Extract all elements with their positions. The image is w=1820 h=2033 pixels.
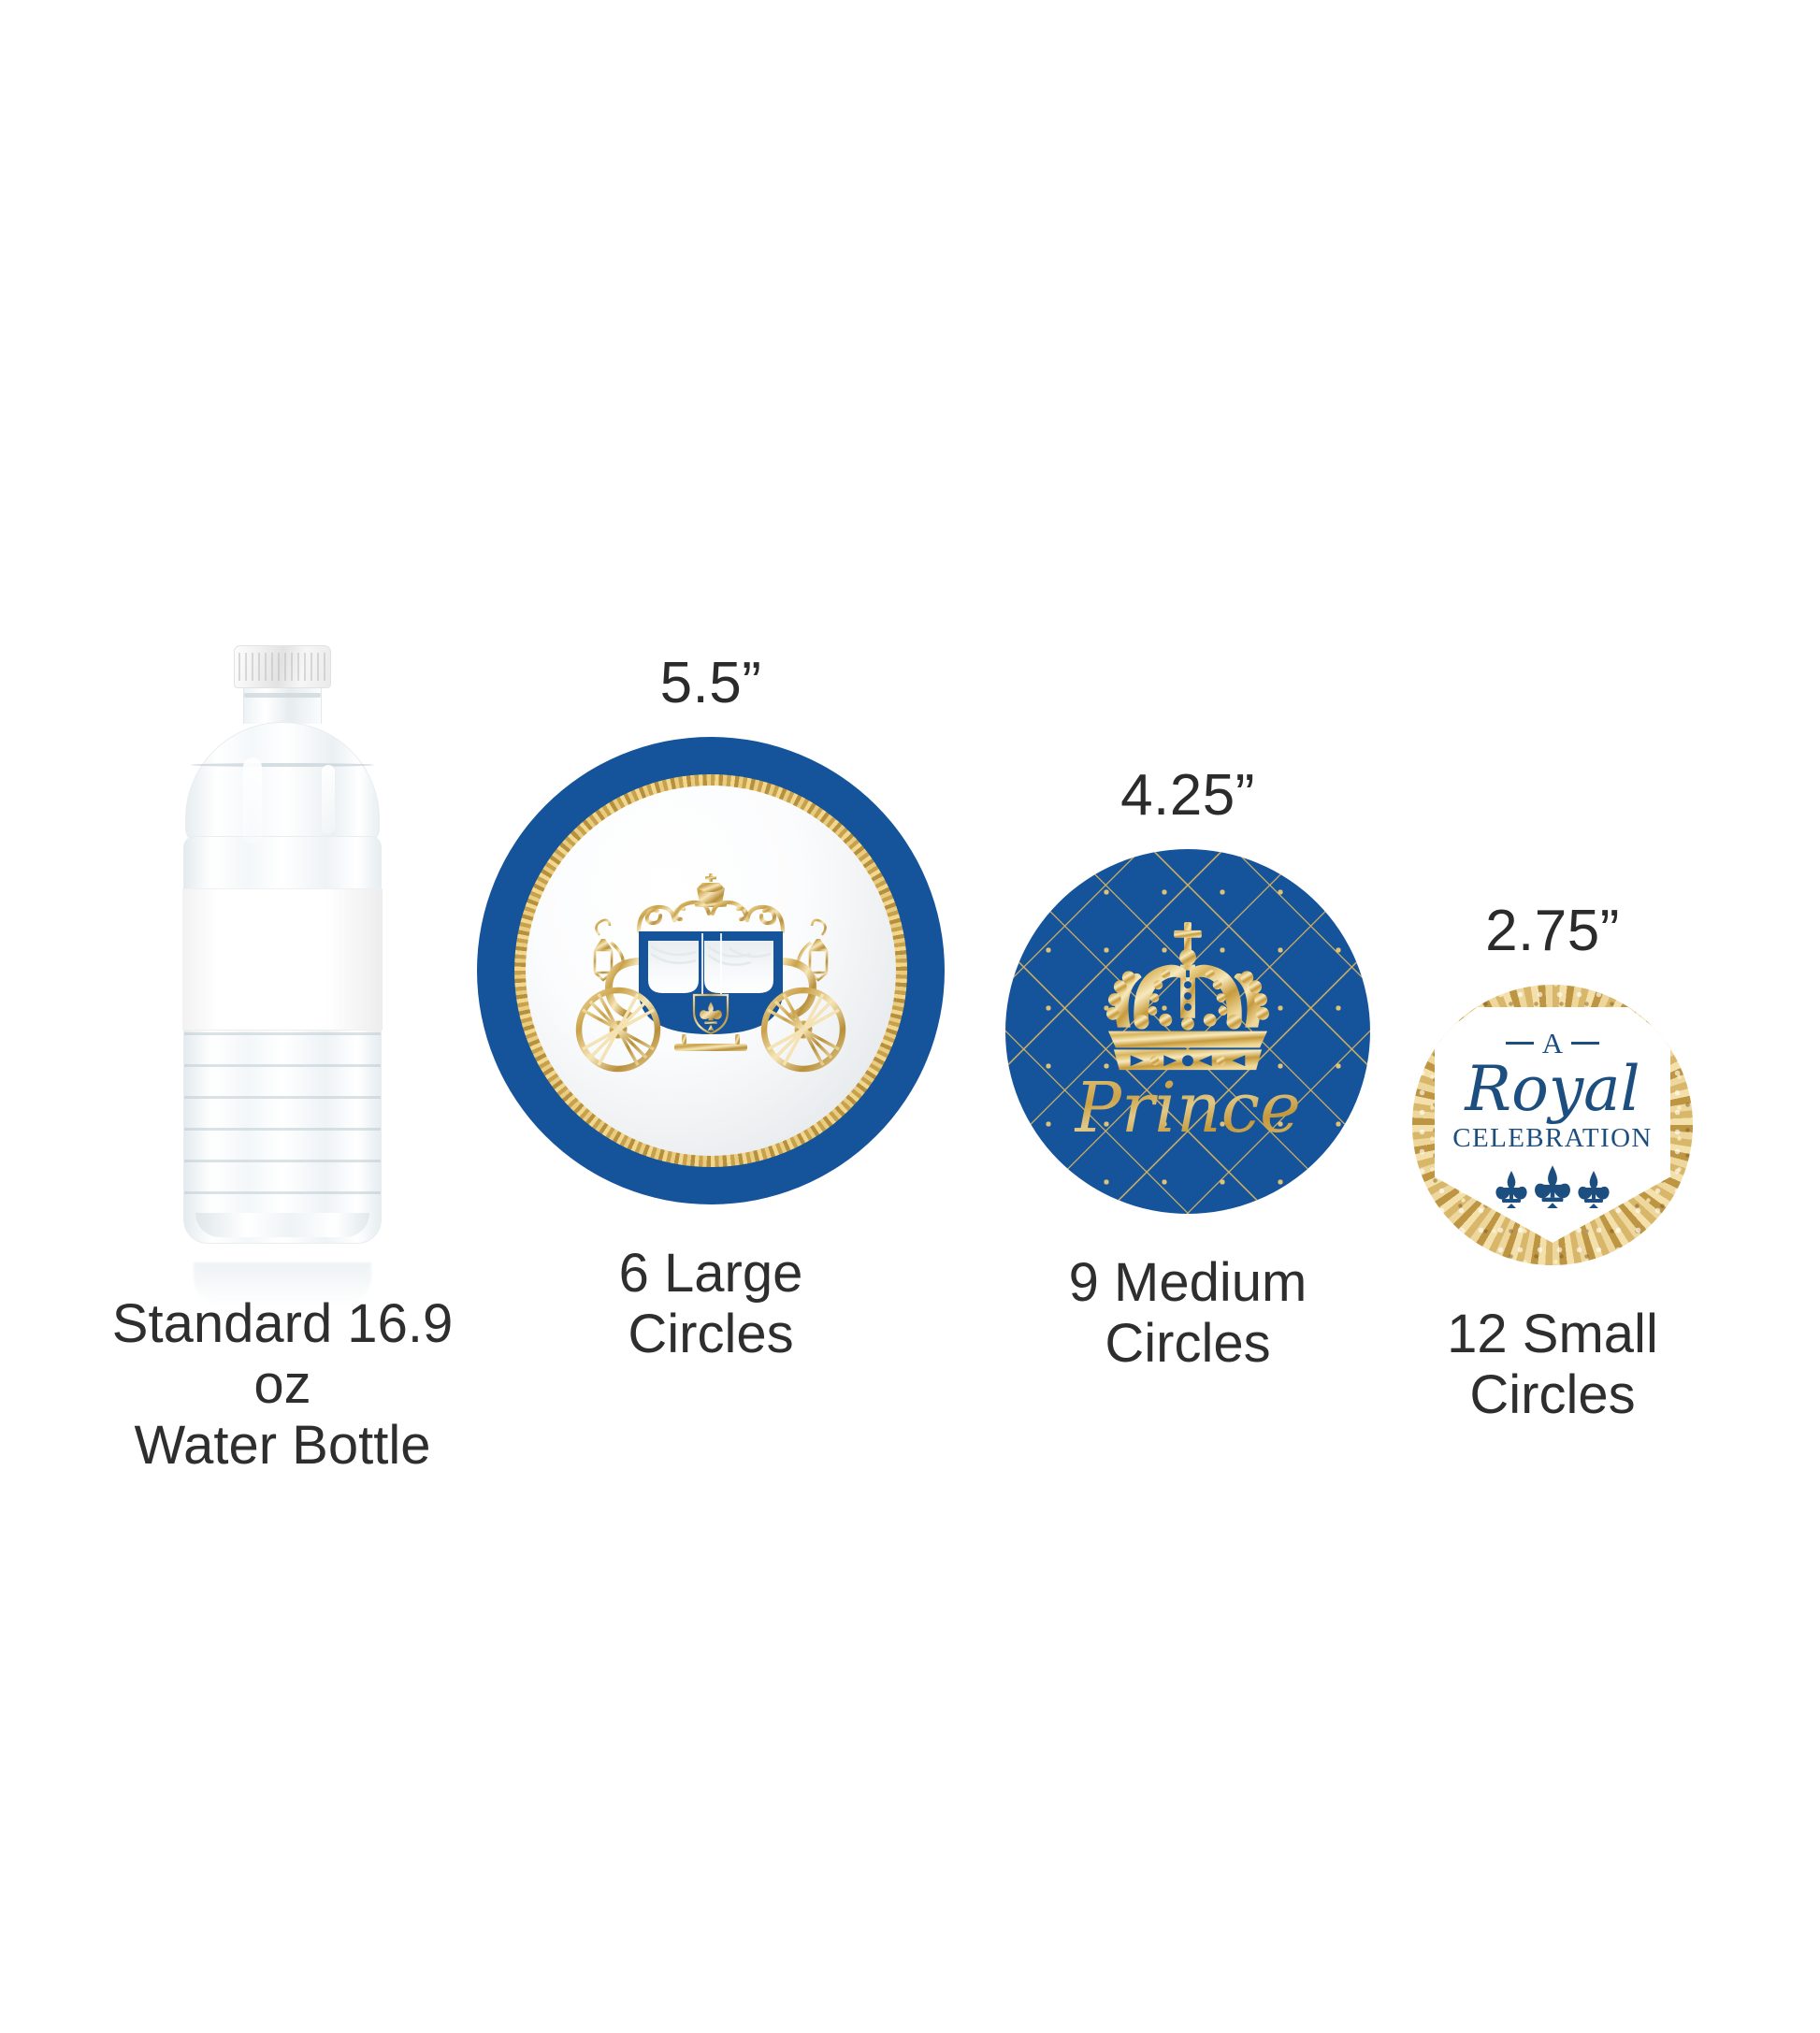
fleur-de-lis-icon-3 — [1578, 1169, 1610, 1208]
small-circle-artwork: A Royal CELEBRATION — [1412, 985, 1693, 1265]
banner-rule-left — [1506, 1042, 1534, 1045]
large-circle-gold-glitter-ring — [514, 774, 907, 1167]
prince-crown-icon — [1076, 920, 1299, 1081]
medium-circle-face: Prince — [1005, 849, 1370, 1214]
bottle-highlight-left — [243, 757, 262, 843]
large-circle-face — [526, 786, 896, 1156]
bottle-highlight-right — [322, 765, 335, 834]
bottle-cap-icon — [234, 645, 331, 688]
small-circle-size-label: 2.75” — [1485, 902, 1620, 960]
bottle-neck — [243, 688, 322, 724]
bottle-waterline — [191, 763, 374, 767]
water-bottle-image — [181, 645, 383, 1262]
bottle-shoulder — [185, 722, 380, 843]
bottle-blank-label — [182, 888, 383, 1031]
medium-circle-artwork: Prince — [1005, 849, 1370, 1214]
large-circle-size-label: 5.5” — [660, 655, 762, 713]
carriage-svg — [556, 868, 865, 1074]
medium-circle-size-label: 4.25” — [1120, 767, 1255, 825]
water-bottle-caption: Standard 16.9 oz Water Bottle — [86, 1294, 479, 1477]
small-circle-caption: 12 Small Circles — [1447, 1305, 1658, 1426]
carriage-footboard — [674, 1034, 747, 1051]
small-circle-group: 2.75” A Royal CELEBRATION — [1403, 902, 1702, 1426]
water-bottle-reference: Standard 16.9 oz Water Bottle — [86, 645, 479, 1477]
fleur-de-lis-icon-1 — [1495, 1169, 1527, 1208]
fleur-de-lis-row — [1495, 1163, 1610, 1208]
banner-celebration-text: CELEBRATION — [1452, 1125, 1653, 1152]
bottle-reflection — [194, 1262, 371, 1305]
royal-carriage-illustration — [556, 868, 865, 1074]
crown-shape — [1106, 922, 1269, 1070]
large-circle-artwork — [477, 737, 945, 1204]
small-circle-gold-glitter-face: A Royal CELEBRATION — [1412, 985, 1693, 1265]
prince-script-text: Prince — [1075, 1074, 1301, 1143]
large-circle-group: 5.5” — [468, 655, 954, 1365]
fleur-de-lis-icon-2 — [1534, 1163, 1571, 1208]
medium-circle-group: 4.25” — [991, 767, 1384, 1375]
product-size-comparison-sheet: Standard 16.9 oz Water Bottle 5.5” — [0, 0, 1820, 2033]
banner-royal-text: Royal — [1465, 1060, 1639, 1118]
carriage-wheel-right — [764, 990, 843, 1069]
medium-circle-caption: 9 Medium Circles — [1069, 1253, 1307, 1375]
large-circle-blue-ring — [477, 737, 945, 1204]
carriage-wheel-left — [579, 990, 657, 1069]
bottle-base — [195, 1213, 369, 1237]
banner-rule-right — [1571, 1042, 1599, 1045]
large-circle-caption: 6 Large Circles — [619, 1244, 803, 1365]
